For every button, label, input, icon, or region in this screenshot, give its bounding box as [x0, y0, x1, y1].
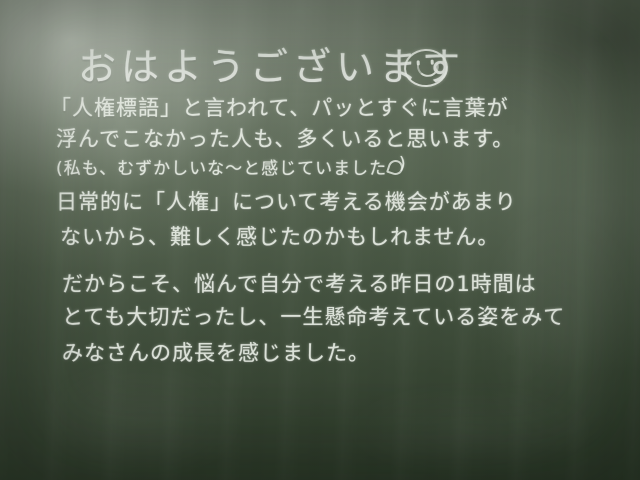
paragraph1-line-1: 「人権標語」と言われて、パッとすぐに言葉が [50, 92, 509, 122]
paragraph1-line-3: (私も、むずかしいな〜と感じていました [56, 154, 387, 179]
paragraph2-line-1: だからこそ、悩んで自分で考える昨日の1時間は [62, 268, 537, 298]
paragraph1-line-3-close-paren: ) [399, 154, 407, 174]
paragraph2-line-2: とても大切だったし、一生懸命考えている姿をみて [62, 301, 565, 331]
chalkboard: おはようございます 「人権標語」と言われて、パッとすぐに言葉が 浮んでこなかった… [0, 0, 640, 480]
smiley-mouth [417, 63, 440, 77]
paragraph1-line-4: 日常的に「人権」について考える機会があまり [56, 186, 517, 216]
paragraph1-line-2: 浮んでこなかった人も、多くいると思います。 [56, 123, 514, 153]
paragraph2-line-3: みなさんの成長を感じました。 [62, 337, 370, 367]
paragraph1-line-5: ないから、難しく感じたのかもしれません。 [60, 221, 499, 251]
